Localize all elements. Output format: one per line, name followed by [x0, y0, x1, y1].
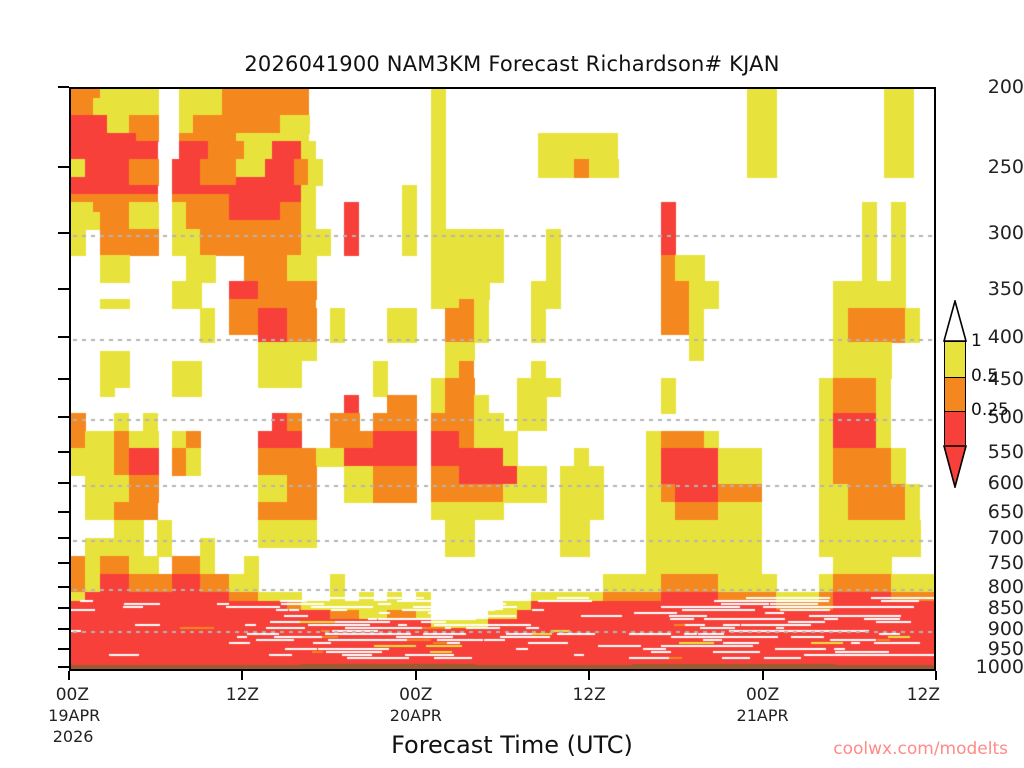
y-tick-label-850: 850 — [966, 597, 1024, 619]
y-tick-mark-950 — [58, 648, 69, 650]
y-tick-mark-300 — [58, 232, 69, 234]
page-title: 2026041900 NAM3KM Forecast Richardson# K… — [0, 52, 1024, 76]
x-tick-label-3: 12Z — [573, 685, 606, 705]
y-tick-mark-200 — [58, 86, 69, 88]
y-tick-label-250: 250 — [966, 156, 1024, 178]
x-tick-label-0: 00Z — [56, 685, 89, 705]
y-tick-mark-900 — [58, 628, 69, 630]
colorbar-cap-bottom — [943, 444, 967, 488]
x-tick-label-4: 00Z — [746, 685, 779, 705]
watermark: coolwx.com/modelts — [833, 739, 1008, 759]
y-tick-label-1000: 1000 — [966, 656, 1024, 678]
colorbar-body — [944, 341, 966, 445]
colorbar-cap-top-outline — [943, 300, 967, 342]
y-tick-label-700: 700 — [966, 527, 1024, 549]
y-tick-label-350: 350 — [966, 278, 1024, 300]
colorbar-segment-2 — [945, 411, 965, 447]
y-tick-mark-700 — [58, 537, 69, 539]
y-tick-mark-750 — [58, 562, 69, 564]
x-tick-mark-1 — [241, 671, 243, 680]
heatmap-canvas — [71, 89, 934, 669]
y-tick-mark-350 — [58, 288, 69, 290]
x-tick-mark-5 — [935, 671, 937, 680]
x-tick-mark-2 — [415, 671, 417, 680]
colorbar-label-0: 1 — [971, 331, 982, 351]
y-tick-label-750: 750 — [966, 552, 1024, 574]
y-tick-mark-650 — [58, 511, 69, 513]
colorbar-segment-1 — [945, 377, 965, 413]
x-tick-date-4: 21APR — [737, 706, 789, 725]
x-tick-date-0: 19APR — [48, 706, 100, 725]
x-tick-date-2: 20APR — [390, 706, 442, 725]
y-tick-mark-800 — [58, 586, 69, 588]
y-tick-mark-400 — [58, 336, 69, 338]
y-tick-mark-850 — [58, 607, 69, 609]
y-tick-label-300: 300 — [966, 222, 1024, 244]
colorbar-label-2: 0.25 — [971, 400, 1009, 420]
colorbar-label-1: 0.5 — [971, 366, 998, 386]
x-tick-label-5: 12Z — [907, 685, 940, 705]
y-tick-mark-550 — [58, 451, 69, 453]
y-tick-label-550: 550 — [966, 441, 1024, 463]
chart-page: 2026041900 NAM3KM Forecast Richardson# K… — [0, 0, 1024, 768]
x-tick-mark-4 — [762, 671, 764, 680]
x-tick-mark-0 — [68, 671, 70, 680]
y-tick-mark-450 — [58, 378, 69, 380]
y-tick-mark-1000 — [58, 666, 69, 668]
plot-area — [69, 87, 936, 671]
y-tick-label-600: 600 — [966, 472, 1024, 494]
y-tick-mark-500 — [58, 416, 69, 418]
y-tick-label-200: 200 — [966, 76, 1024, 98]
y-tick-mark-600 — [58, 482, 69, 484]
x-tick-label-2: 00Z — [399, 685, 432, 705]
y-tick-label-800: 800 — [966, 576, 1024, 598]
x-tick-label-1: 12Z — [226, 685, 259, 705]
y-tick-label-650: 650 — [966, 501, 1024, 523]
y-tick-mark-250 — [58, 166, 69, 168]
colorbar-segment-0 — [945, 342, 965, 377]
x-tick-mark-3 — [588, 671, 590, 680]
